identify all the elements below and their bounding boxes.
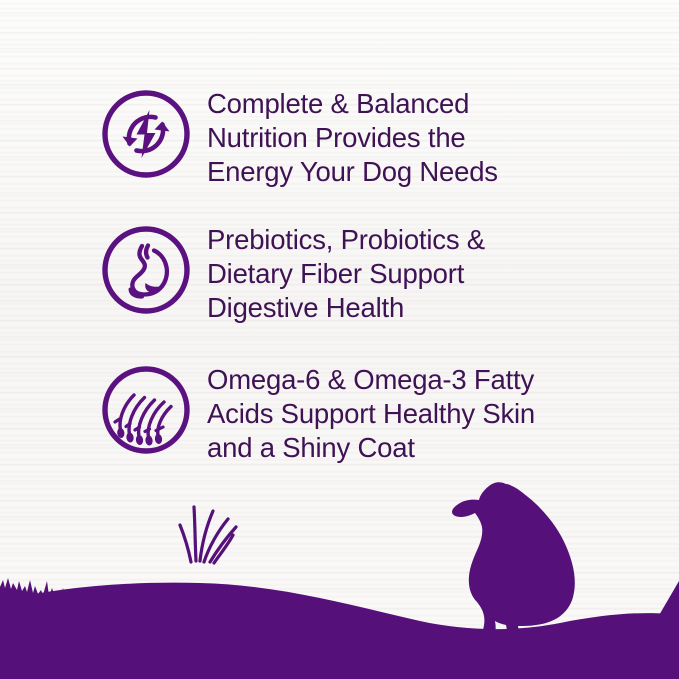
product-feature-panel: Complete & Balanced Nutrition Provides t…: [0, 0, 679, 679]
feature-item-skin-coat: Omega-6 & Omega-3 Fatty Acids Support He…: [100, 362, 535, 465]
feature-item-nutrition: Complete & Balanced Nutrition Provides t…: [100, 86, 498, 189]
stomach-icon: [100, 224, 192, 316]
feature-item-digestive: Prebiotics, Probiotics & Dietary Fiber S…: [100, 222, 485, 325]
feature-text-nutrition: Complete & Balanced Nutrition Provides t…: [207, 86, 498, 189]
grass-hill-foreground: [0, 583, 679, 679]
hair-follicle-icon: [100, 364, 192, 456]
energy-cycle-icon: [100, 88, 192, 180]
feature-text-digestive: Prebiotics, Probiotics & Dietary Fiber S…: [207, 222, 485, 325]
grass-hill-with-dog-silhouette: [0, 469, 679, 679]
feature-text-skin-coat: Omega-6 & Omega-3 Fatty Acids Support He…: [207, 362, 535, 465]
sitting-dog-silhouette: [452, 482, 575, 644]
tall-grass-tuft: [180, 507, 236, 563]
